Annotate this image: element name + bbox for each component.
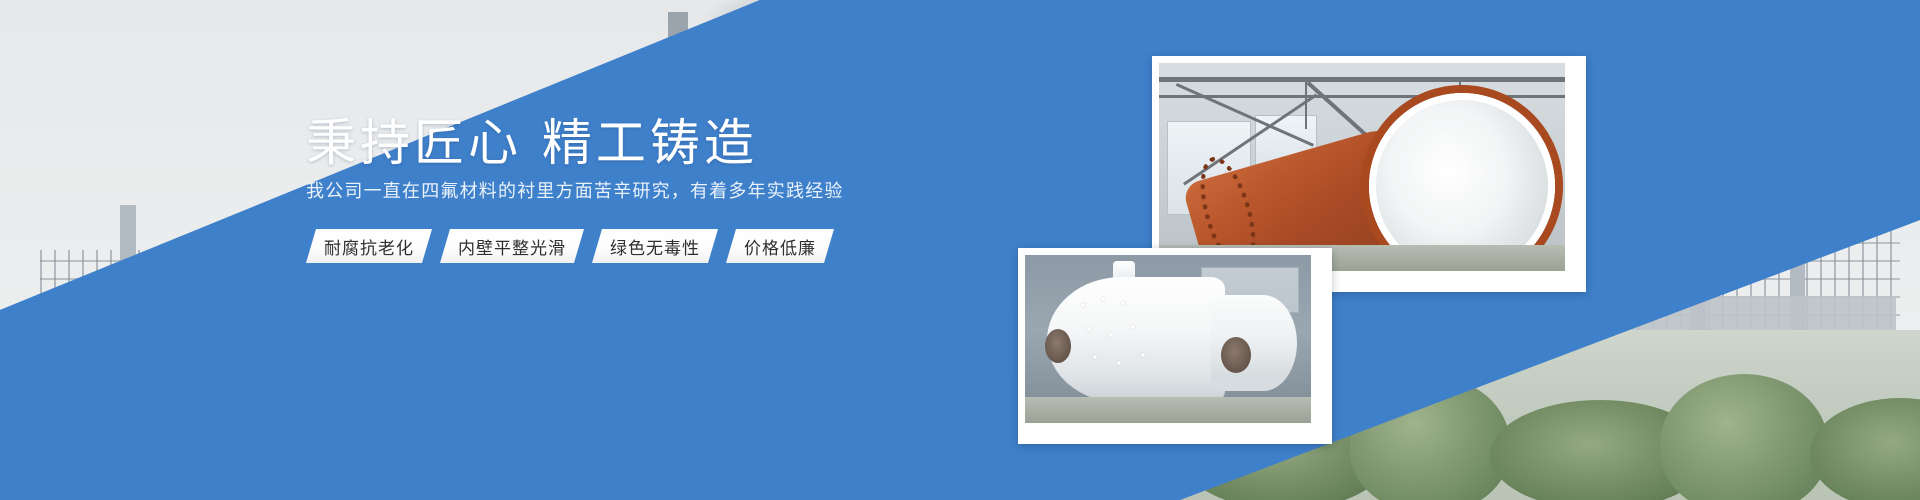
tank-bolt	[1101, 297, 1105, 301]
tank-manhole	[1221, 337, 1251, 373]
feature-tag-list: 耐腐抗老化 内壁平整光滑 绿色无毒性 价格低廉	[306, 229, 834, 263]
feature-tag-corrosion-resistant[interactable]: 耐腐抗老化	[306, 229, 432, 263]
white-tank-body	[1047, 277, 1225, 403]
tank-bolt	[1131, 325, 1135, 329]
crane-cable	[1305, 81, 1307, 129]
tank-bolt	[1141, 353, 1145, 357]
feature-tag-label: 绿色无毒性	[610, 234, 700, 259]
feature-tag-smooth-inner-wall[interactable]: 内壁平整光滑	[440, 229, 584, 263]
tank-manhole	[1045, 329, 1071, 363]
feature-tag-label: 耐腐抗老化	[324, 234, 414, 259]
promo-banner: 秉持匠心 精工铸造 我公司一直在四氟材料的衬里方面苦辛研究，有着多年实践经验 耐…	[0, 0, 1920, 500]
roof-beam	[1159, 95, 1565, 98]
banner-subtitle: 我公司一直在四氟材料的衬里方面苦辛研究，有着多年实践经验	[306, 183, 844, 201]
tank-bolt	[1087, 327, 1091, 331]
roof-beam	[1159, 77, 1565, 82]
product-photo-white-tank-image	[1025, 255, 1311, 423]
feature-tag-label: 价格低廉	[744, 234, 816, 259]
product-photo-white-tank[interactable]	[1018, 248, 1332, 444]
feature-tag-low-price[interactable]: 价格低廉	[726, 229, 834, 263]
tank-bolt	[1081, 303, 1085, 307]
yard-ground	[1025, 397, 1311, 423]
tank-bolt	[1093, 355, 1097, 359]
tank-bolt	[1117, 361, 1121, 365]
product-photo-orange-vessel-image	[1159, 63, 1565, 271]
tank-bolt	[1109, 333, 1113, 337]
page-title: 秉持匠心 精工铸造	[306, 118, 758, 168]
feature-tag-non-toxic[interactable]: 绿色无毒性	[592, 229, 718, 263]
tank-bolt	[1121, 301, 1125, 305]
banner-text-block: 秉持匠心 精工铸造 我公司一直在四氟材料的衬里方面苦辛研究，有着多年实践经验 耐…	[0, 0, 1060, 500]
feature-tag-label: 内壁平整光滑	[458, 234, 566, 259]
